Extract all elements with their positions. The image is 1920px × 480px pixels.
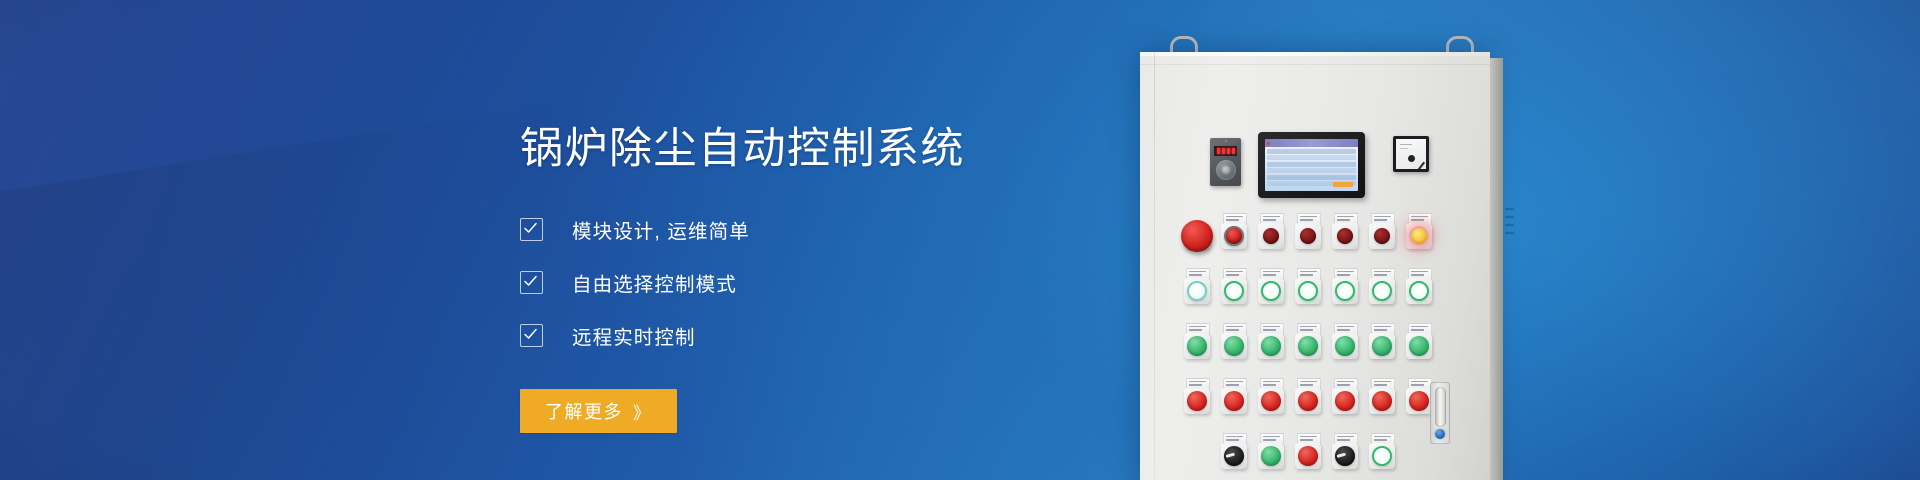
push-button-white-green[interactable]	[1224, 281, 1244, 301]
button-cell	[1326, 387, 1363, 423]
button-cell	[1178, 332, 1215, 368]
hmi-touch-panel[interactable]	[1258, 132, 1365, 198]
push-button-green[interactable]	[1298, 336, 1318, 356]
push-button-red[interactable]	[1298, 391, 1318, 411]
feature-label: 远程实时控制	[572, 321, 696, 350]
hmi-data-row	[1267, 175, 1356, 180]
hmi-data-row	[1267, 162, 1356, 167]
lock-icon[interactable]	[1435, 429, 1445, 439]
selector-switch-black[interactable]	[1224, 446, 1244, 466]
button-cell	[1215, 442, 1252, 478]
button-row	[1178, 387, 1456, 423]
cabinet-body	[1140, 52, 1490, 480]
push-button-green[interactable]	[1335, 336, 1355, 356]
cabinet-door-seam	[1140, 64, 1490, 65]
hmi-screen[interactable]	[1265, 139, 1358, 191]
page-title: 锅炉除尘自动控制系统	[520, 126, 1140, 172]
power-led-icon	[1267, 142, 1270, 145]
push-button-green[interactable]	[1372, 336, 1392, 356]
digital-controller[interactable]	[1210, 138, 1241, 186]
button-cell	[1252, 442, 1289, 478]
button-cell	[1289, 332, 1326, 368]
analog-ammeter	[1393, 136, 1429, 172]
button-cell	[1363, 277, 1400, 313]
gauge-scale-icon	[1400, 144, 1412, 145]
button-cell	[1252, 222, 1289, 258]
push-button-red[interactable]	[1409, 391, 1429, 411]
push-button-green[interactable]	[1261, 446, 1281, 466]
button-cell	[1289, 387, 1326, 423]
button-cell	[1400, 277, 1437, 313]
push-button-white-green[interactable]	[1298, 281, 1318, 301]
feature-label: 自由选择控制模式	[572, 268, 737, 297]
button-cell	[1289, 222, 1326, 258]
button-cell	[1215, 277, 1252, 313]
feature-label: 模块设计, 运维简单	[572, 215, 750, 244]
push-button-red[interactable]	[1187, 391, 1207, 411]
checkbox-icon	[520, 218, 543, 241]
button-cell	[1289, 277, 1326, 313]
hmi-data-row	[1267, 155, 1356, 160]
button-cell	[1400, 442, 1437, 478]
screw-icon	[1225, 140, 1227, 142]
cabinet-top-edge	[1140, 52, 1490, 56]
button-cell	[1289, 442, 1326, 478]
gauge-needle-icon	[1411, 161, 1425, 169]
push-button-white-green[interactable]	[1372, 281, 1392, 301]
button-cell	[1215, 387, 1252, 423]
indicator-lamp-dark-red[interactable]	[1300, 228, 1316, 244]
button-cell	[1178, 277, 1215, 313]
hmi-action-button[interactable]	[1333, 182, 1353, 187]
indicator-lamp-amber-active[interactable]	[1409, 226, 1429, 246]
control-cabinet	[1124, 0, 1544, 480]
push-button-red[interactable]	[1261, 391, 1281, 411]
button-cell	[1326, 332, 1363, 368]
emergency-stop-button[interactable]	[1181, 220, 1213, 252]
push-button-red[interactable]	[1335, 391, 1355, 411]
learn-more-label: 了解更多	[545, 398, 623, 424]
button-row	[1178, 277, 1456, 313]
push-button-red[interactable]	[1372, 391, 1392, 411]
push-button-red[interactable]	[1224, 391, 1244, 411]
push-button-white-green[interactable]	[1409, 281, 1429, 301]
button-cell	[1363, 442, 1400, 478]
list-item: 远程实时控制	[520, 322, 1140, 348]
button-row	[1178, 442, 1456, 478]
button-cell	[1326, 442, 1363, 478]
handle-grip[interactable]	[1435, 387, 1446, 427]
button-cell	[1215, 332, 1252, 368]
indicator-lamp-red[interactable]	[1224, 226, 1244, 246]
cabinet-right-side	[1490, 58, 1503, 480]
push-button-green[interactable]	[1187, 336, 1207, 356]
feature-list: 模块设计, 运维简单 自由选择控制模式 远程实时控制	[520, 216, 1140, 348]
push-button-green[interactable]	[1224, 336, 1244, 356]
hmi-data-row	[1267, 149, 1356, 154]
indicator-lamp-dark-red[interactable]	[1337, 228, 1353, 244]
push-button-white-green[interactable]	[1335, 281, 1355, 301]
button-cell	[1363, 332, 1400, 368]
led-display	[1214, 146, 1237, 156]
push-button-white-green[interactable]	[1372, 446, 1392, 466]
button-grid	[1178, 222, 1456, 480]
push-button-white-green[interactable]	[1261, 281, 1281, 301]
banner-copy: 锅炉除尘自动控制系统 模块设计, 运维简单 自由选择控制模式 远程实时控制	[520, 126, 1140, 433]
cabinet-left-seam	[1154, 52, 1155, 480]
checkbox-icon	[520, 324, 543, 347]
checkbox-icon	[520, 271, 543, 294]
gauge-scale-icon	[1400, 148, 1408, 149]
button-cell	[1215, 222, 1252, 258]
button-cell	[1400, 222, 1437, 258]
chevron-right-icon: 》	[633, 399, 652, 424]
button-cell	[1326, 222, 1363, 258]
hmi-data-row	[1267, 168, 1356, 173]
selector-switch-black[interactable]	[1335, 446, 1355, 466]
push-button-red[interactable]	[1298, 446, 1318, 466]
button-cell	[1178, 387, 1215, 423]
button-cell	[1178, 442, 1215, 478]
push-button-white-cyan[interactable]	[1187, 281, 1207, 301]
gauge-face	[1396, 139, 1426, 169]
hero-banner: 锅炉除尘自动控制系统 模块设计, 运维简单 自由选择控制模式 远程实时控制	[0, 0, 1920, 480]
indicator-lamp-dark-red[interactable]	[1263, 228, 1279, 244]
list-item: 自由选择控制模式	[520, 269, 1140, 295]
button-row	[1178, 332, 1456, 368]
door-handle[interactable]	[1430, 382, 1450, 444]
list-item: 模块设计, 运维简单	[520, 216, 1140, 242]
rotary-knob-icon[interactable]	[1216, 160, 1236, 180]
push-button-green[interactable]	[1409, 336, 1429, 356]
button-cell	[1252, 387, 1289, 423]
button-cell	[1363, 222, 1400, 258]
gauge-hub-icon	[1408, 155, 1415, 162]
button-cell	[1326, 277, 1363, 313]
button-cell	[1252, 277, 1289, 313]
indicator-lamp-dark-red[interactable]	[1374, 228, 1390, 244]
button-cell	[1363, 387, 1400, 423]
learn-more-button[interactable]: 了解更多 》	[520, 389, 677, 433]
push-button-green[interactable]	[1261, 336, 1281, 356]
button-cell	[1178, 222, 1215, 258]
hmi-title-bar	[1265, 139, 1358, 147]
button-cell	[1252, 332, 1289, 368]
button-row	[1178, 222, 1456, 258]
button-cell	[1400, 332, 1437, 368]
